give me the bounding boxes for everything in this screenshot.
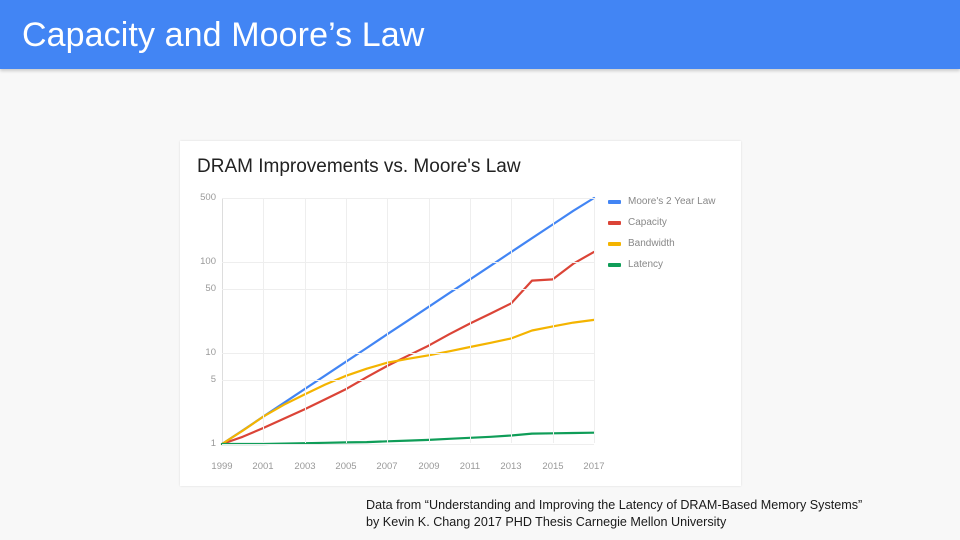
x-axis-tick-label: 2001 (241, 461, 285, 472)
legend-item[interactable]: Bandwidth (608, 233, 738, 254)
slide: Capacity and Moore’s Law DRAM Improvemen… (0, 0, 960, 540)
chart-card: DRAM Improvements vs. Moore's Law 151050… (180, 141, 741, 486)
chart-series-line (222, 252, 594, 444)
legend-item-label: Latency (628, 254, 663, 275)
gridline-horizontal (222, 289, 594, 290)
caption-line-1: Data from “Understanding and Improving t… (366, 497, 956, 514)
gridline-vertical (594, 198, 595, 443)
chart-series-line (222, 320, 594, 444)
gridline-vertical (429, 198, 430, 443)
y-axis-tick-label: 1 (182, 438, 216, 449)
legend-item-label: Capacity (628, 212, 667, 233)
legend-item-label: Bandwidth (628, 233, 675, 254)
gridline-vertical (263, 198, 264, 443)
gridline-horizontal (222, 262, 594, 263)
legend-swatch-icon (608, 221, 621, 225)
x-axis-tick-label: 2015 (531, 461, 575, 472)
legend-item-label: Moore's 2 Year Law (628, 191, 716, 212)
y-axis-tick-label: 10 (182, 347, 216, 358)
source-caption: Data from “Understanding and Improving t… (366, 497, 956, 531)
chart-legend: Moore's 2 Year LawCapacityBandwidthLaten… (608, 191, 738, 275)
gridline-horizontal (222, 444, 594, 445)
gridline-vertical (470, 198, 471, 443)
y-axis-tick-label: 5 (182, 374, 216, 385)
x-axis-tick-label: 2007 (365, 461, 409, 472)
gridline-vertical (305, 198, 306, 443)
legend-item[interactable]: Moore's 2 Year Law (608, 191, 738, 212)
gridline-vertical (511, 198, 512, 443)
slide-title-banner: Capacity and Moore’s Law (0, 0, 960, 69)
x-axis-tick-label: 2005 (324, 461, 368, 472)
gridline-horizontal (222, 380, 594, 381)
x-axis-tick-label: 2013 (489, 461, 533, 472)
gridline-horizontal (222, 353, 594, 354)
chart-series-line (222, 433, 594, 444)
gridline-vertical (553, 198, 554, 443)
y-axis-tick-label: 100 (182, 256, 216, 267)
legend-swatch-icon (608, 200, 621, 204)
gridline-vertical (346, 198, 347, 443)
legend-swatch-icon (608, 242, 621, 246)
legend-swatch-icon (608, 263, 621, 267)
legend-item[interactable]: Latency (608, 254, 738, 275)
x-axis-tick-label: 2011 (448, 461, 492, 472)
x-axis-tick-label: 2017 (572, 461, 616, 472)
x-axis-tick-label: 2003 (283, 461, 327, 472)
x-axis-tick-label: 2009 (407, 461, 451, 472)
gridline-vertical (387, 198, 388, 443)
legend-item[interactable]: Capacity (608, 212, 738, 233)
page-title: Capacity and Moore’s Law (22, 14, 424, 56)
x-axis-tick-label: 1999 (200, 461, 244, 472)
gridline-horizontal (222, 198, 594, 199)
y-axis-tick-label: 500 (182, 192, 216, 203)
y-axis-tick-label: 50 (182, 283, 216, 294)
caption-line-2: by Kevin K. Chang 2017 PHD Thesis Carneg… (366, 514, 956, 531)
